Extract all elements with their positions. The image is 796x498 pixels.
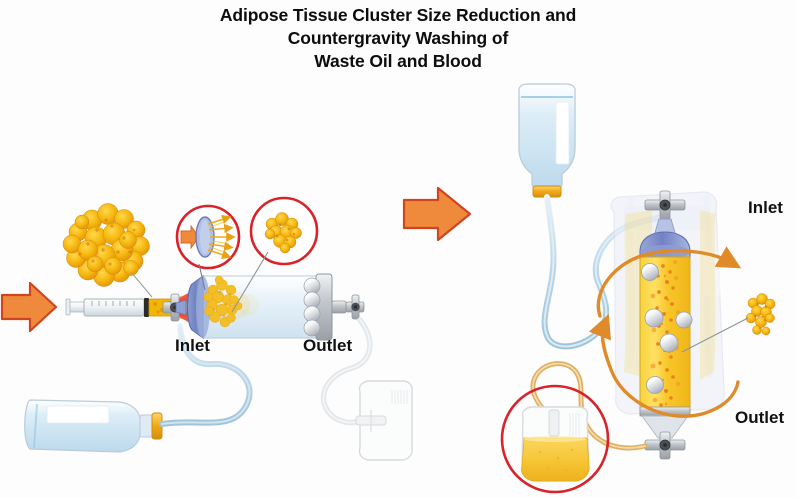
process-diagram: Adipose Tissue Cluster Size Reduction an…	[0, 0, 796, 498]
wash-bead	[647, 377, 664, 394]
label-inlet-left: Inlet	[175, 336, 210, 356]
bottle-label	[47, 406, 109, 423]
label-outlet-right: Outlet	[735, 408, 784, 428]
stopcock-valve-bottom	[645, 432, 685, 459]
horizontal-chamber	[176, 274, 364, 340]
process-arrow-transition	[404, 188, 470, 240]
wash-bead	[676, 312, 692, 328]
waste-bag-port	[549, 410, 559, 436]
waste-bag-filled	[522, 407, 589, 481]
adipose-tissue-cluster-large	[63, 203, 152, 297]
saline-bottle	[25, 400, 162, 452]
hanging-saline-bottle	[519, 84, 575, 197]
diagram-canvas	[0, 0, 796, 498]
leader-line-cluster	[131, 272, 152, 297]
label-inlet-right: Inlet	[748, 198, 783, 218]
wash-bead	[645, 309, 663, 327]
waste-fluid	[522, 438, 589, 481]
label-outlet-left: Outlet	[303, 336, 352, 356]
hanging-bottle-label	[556, 102, 569, 164]
bead-filter-outlet	[304, 274, 364, 340]
collection-bag-empty	[356, 381, 412, 460]
wash-bead	[660, 334, 678, 352]
wash-bead	[642, 264, 659, 281]
process-arrow-in	[2, 283, 56, 331]
